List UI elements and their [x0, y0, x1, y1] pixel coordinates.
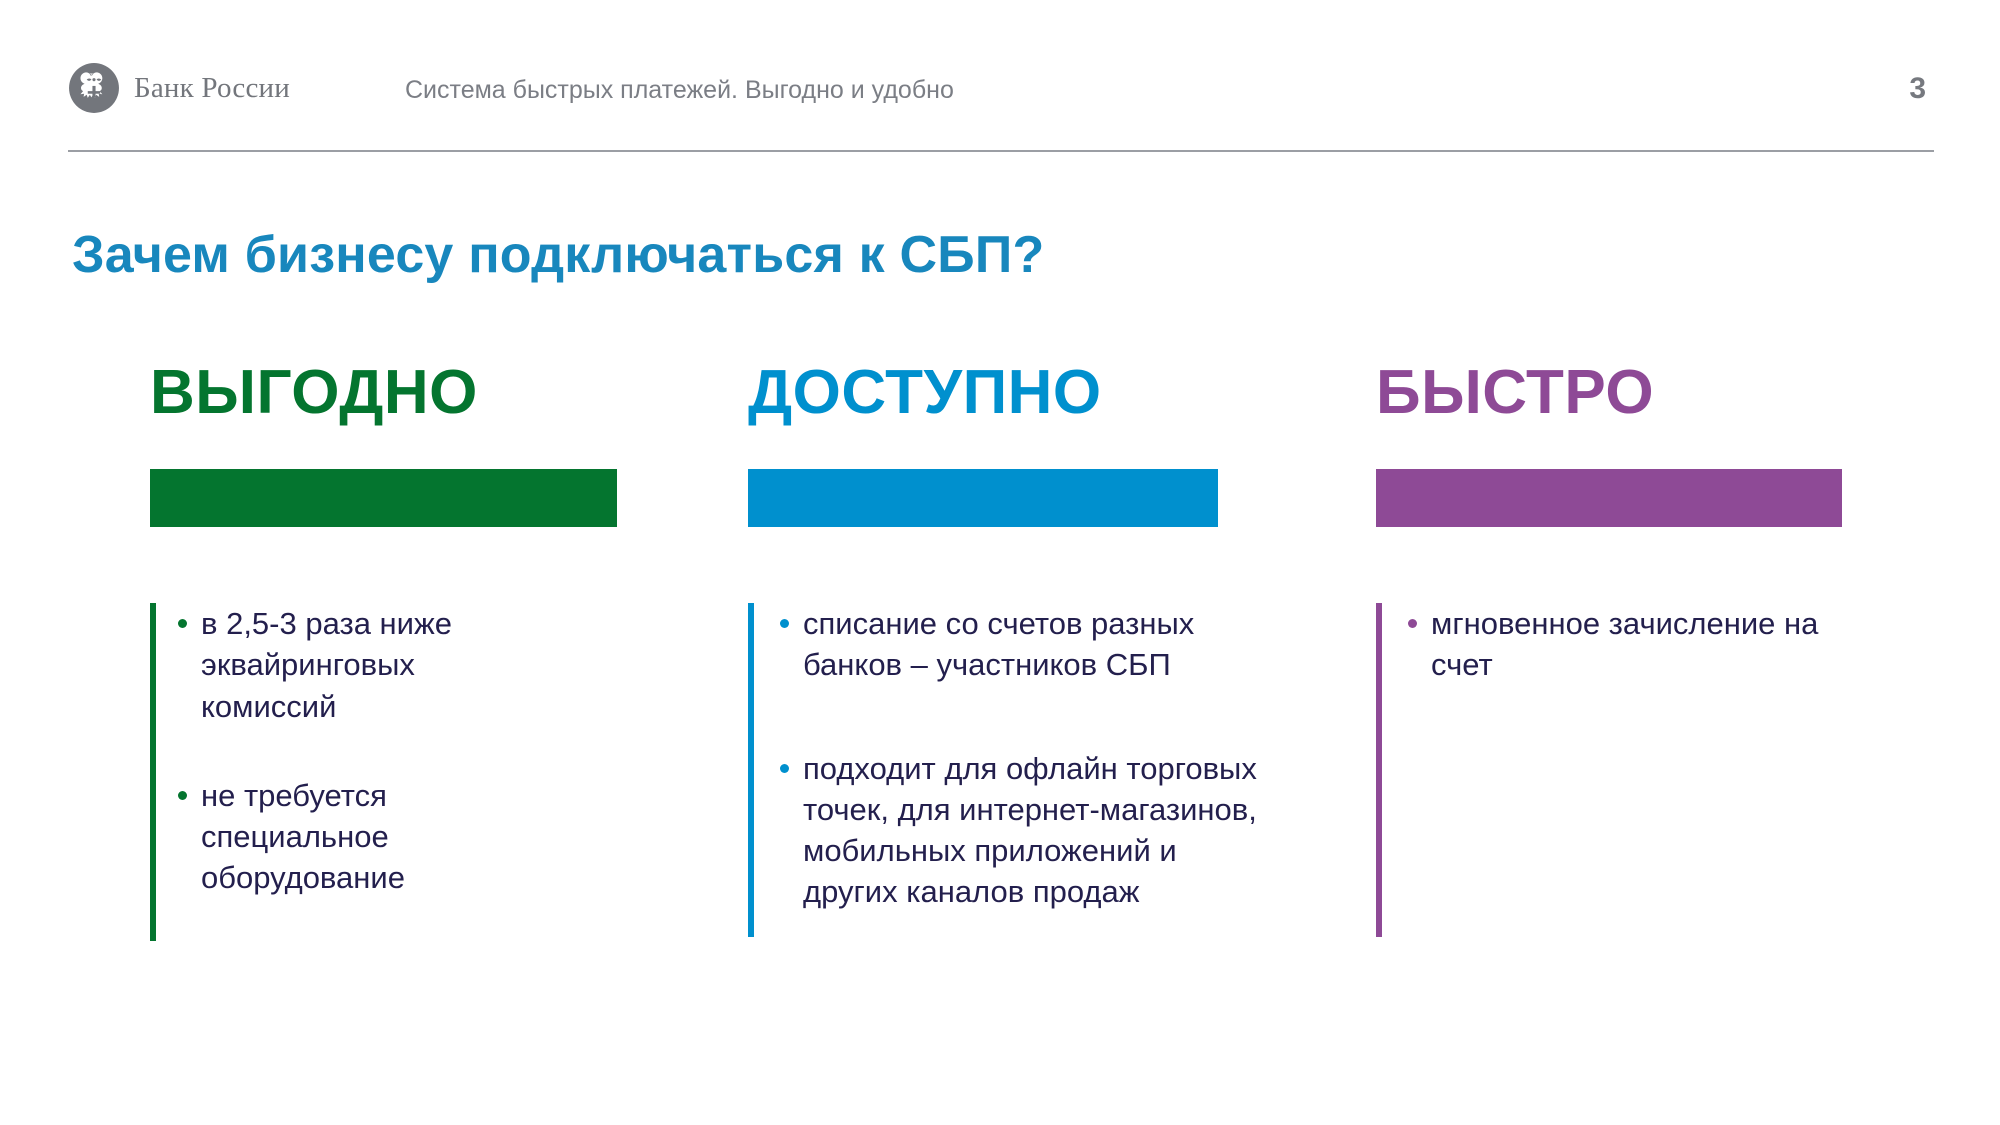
- bank-of-russia-eagle-emblem-icon: [68, 62, 120, 114]
- page-title: Зачем бизнесу подключаться к СБП?: [72, 225, 1044, 285]
- accent-rail: [1376, 603, 1382, 937]
- bullet-text: подходит для офлайн торговых точек, для …: [803, 748, 1273, 913]
- bullet-text: не требуется специальное оборудование: [201, 775, 501, 899]
- column-color-bar: [1376, 469, 1842, 527]
- brand-logo: Банк России: [68, 62, 290, 114]
- brand-name: Банк России: [134, 72, 290, 105]
- bullet-dot-icon: [178, 791, 187, 800]
- bullet-list: в 2,5-3 раза ниже эквайринговых комиссий…: [150, 603, 770, 898]
- bullet-text: списание со счетов разных банков – участ…: [803, 603, 1273, 685]
- bullet-list: мгновенное зачисление на счет: [1376, 603, 1996, 685]
- column-heading: ДОСТУПНО: [748, 360, 1368, 425]
- bullet-dot-icon: [780, 619, 789, 628]
- list-item: мгновенное зачисление на счет: [1408, 603, 1996, 685]
- list-item: не требуется специальное оборудование: [178, 775, 770, 899]
- header-subtitle: Система быстрых платежей. Выгодно и удоб…: [405, 76, 954, 105]
- accent-rail: [748, 603, 754, 937]
- column-color-bar: [150, 469, 617, 527]
- benefit-column-dostupno: ДОСТУПНО списание со счетов разных банко…: [748, 360, 1368, 974]
- accent-rail: [150, 603, 156, 941]
- bullet-dot-icon: [178, 619, 187, 628]
- list-item: в 2,5-3 раза ниже эквайринговых комиссий: [178, 603, 770, 727]
- slide: Банк России Система быстрых платежей. Вы…: [0, 0, 2000, 1125]
- list-item: подходит для офлайн торговых точек, для …: [780, 748, 1368, 913]
- page-number: 3: [1909, 72, 1926, 106]
- bullet-dot-icon: [1408, 619, 1417, 628]
- bullet-list: списание со счетов разных банков – участ…: [748, 603, 1368, 912]
- slide-header: Банк России Система быстрых платежей. Вы…: [0, 0, 2000, 150]
- column-heading: ВЫГОДНО: [150, 360, 770, 425]
- benefit-column-bystro: БЫСТРО мгновенное зачисление на счет: [1376, 360, 1996, 686]
- column-color-bar: [748, 469, 1218, 527]
- benefit-column-vygodno: ВЫГОДНО в 2,5-3 раза ниже эквайринговых …: [150, 360, 770, 898]
- header-divider: [68, 150, 1934, 152]
- column-heading: БЫСТРО: [1376, 360, 1996, 425]
- bullet-dot-icon: [780, 764, 789, 773]
- bullet-text: мгновенное зачисление на счет: [1431, 603, 1831, 685]
- list-item: списание со счетов разных банков – участ…: [780, 603, 1368, 685]
- benefit-columns: ВЫГОДНО в 2,5-3 раза ниже эквайринговых …: [0, 360, 2000, 1060]
- bullet-text: в 2,5-3 раза ниже эквайринговых комиссий: [201, 603, 501, 727]
